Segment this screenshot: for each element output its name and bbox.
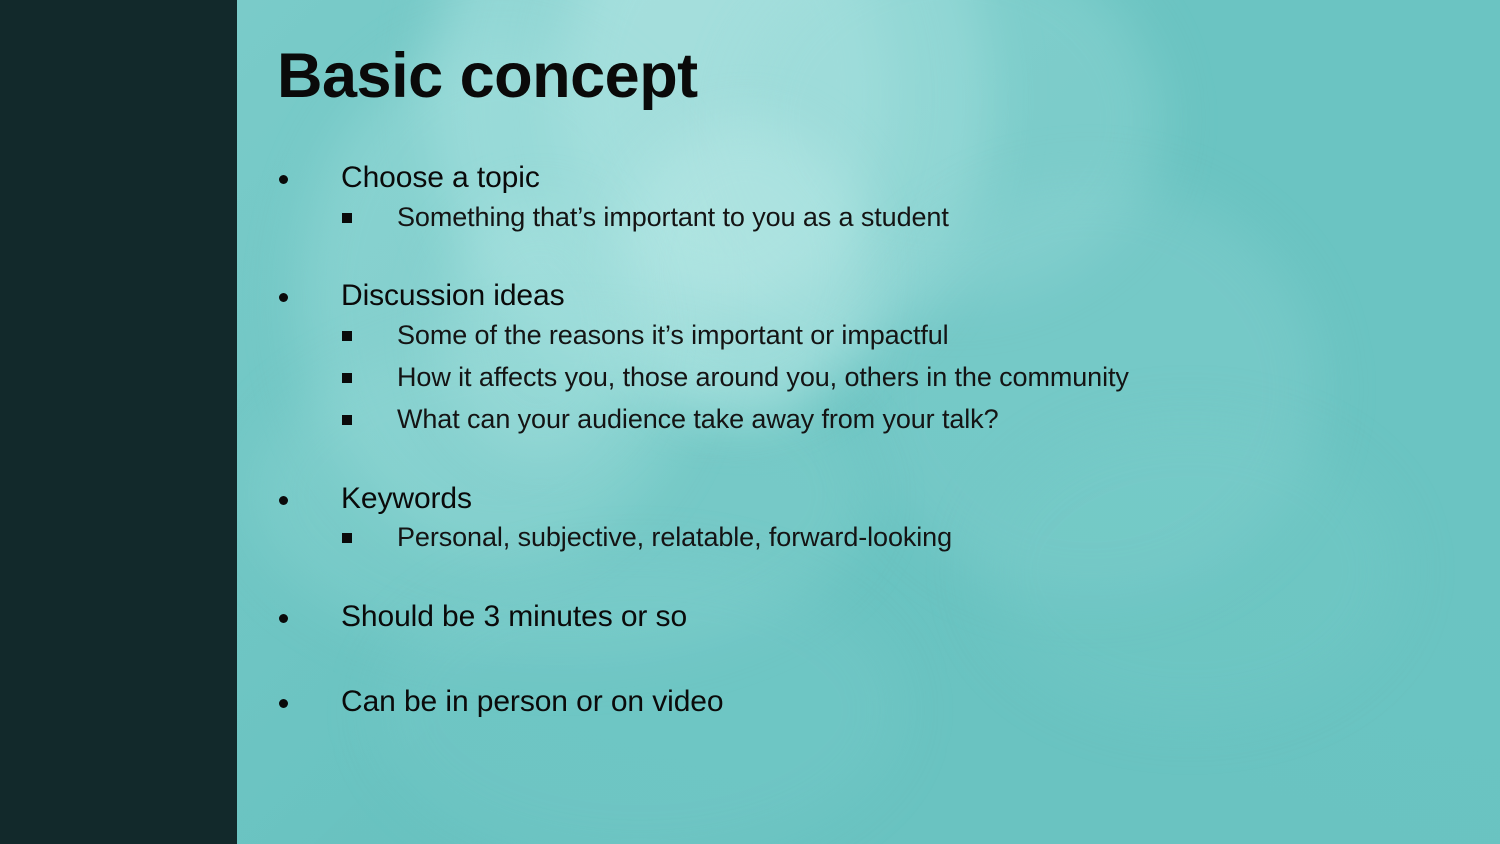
bullet-group-spacer xyxy=(271,238,1471,278)
bullet-square-icon xyxy=(342,533,352,543)
bullet-level2: What can your audience take away from yo… xyxy=(271,399,1471,441)
presentation-slide: Basic concept Choose a topic Something t… xyxy=(0,0,1500,844)
bullet-dot-icon xyxy=(279,614,288,623)
bullet-group: Can be in person or on video xyxy=(271,684,1471,721)
bullet-level1-label: Discussion ideas xyxy=(341,279,565,312)
bullet-level2: Personal, subjective, relatable, forward… xyxy=(271,517,1471,559)
slide-content: Basic concept Choose a topic Something t… xyxy=(237,0,1500,844)
bullet-group: Keywords Personal, subjective, relatable… xyxy=(271,481,1471,559)
bullet-dot-icon xyxy=(279,496,288,505)
bullet-group-spacer xyxy=(271,441,1471,481)
bullet-group: Should be 3 minutes or so xyxy=(271,599,1471,636)
bullet-level1: Discussion ideas xyxy=(271,278,1471,315)
bullet-square-icon xyxy=(342,373,352,383)
bullet-square-icon xyxy=(342,213,352,223)
bullet-group-spacer xyxy=(271,636,1471,676)
bullet-square-icon xyxy=(342,415,352,425)
bullet-level2-label: How it affects you, those around you, ot… xyxy=(397,362,1129,392)
page-title: Basic concept xyxy=(277,42,698,111)
bullet-group-spacer xyxy=(271,559,1471,599)
bullet-dot-icon xyxy=(279,699,288,708)
bullet-level1: Can be in person or on video xyxy=(271,684,1471,721)
bullet-level2-label: Some of the reasons it’s important or im… xyxy=(397,320,949,350)
bullet-level1-label: Can be in person or on video xyxy=(341,685,723,718)
bullet-level2: How it affects you, those around you, ot… xyxy=(271,357,1471,399)
bullet-group: Discussion ideas Some of the reasons it’… xyxy=(271,278,1471,440)
bullet-level1: Choose a topic xyxy=(271,160,1471,197)
bullet-square-icon xyxy=(342,331,352,341)
bullet-level1: Should be 3 minutes or so xyxy=(271,599,1471,636)
bullet-group-spacer xyxy=(271,676,1471,684)
bullet-level2-label: What can your audience take away from yo… xyxy=(397,404,999,434)
bullet-level2-label: Something that’s important to you as a s… xyxy=(397,202,949,232)
bullet-level1-label: Keywords xyxy=(341,482,472,515)
bullet-list: Choose a topic Something that’s importan… xyxy=(271,160,1471,720)
bullet-dot-icon xyxy=(279,293,288,302)
bullet-level2: Some of the reasons it’s important or im… xyxy=(271,315,1471,357)
bullet-level1-label: Choose a topic xyxy=(341,161,540,194)
bullet-level2: Something that’s important to you as a s… xyxy=(271,197,1471,239)
bullet-dot-icon xyxy=(279,175,288,184)
bullet-level1-label: Should be 3 minutes or so xyxy=(341,600,687,633)
bullet-level1: Keywords xyxy=(271,481,1471,518)
sidebar-accent-band xyxy=(0,0,237,844)
bullet-group: Choose a topic Something that’s importan… xyxy=(271,160,1471,238)
bullet-level2-label: Personal, subjective, relatable, forward… xyxy=(397,522,952,552)
